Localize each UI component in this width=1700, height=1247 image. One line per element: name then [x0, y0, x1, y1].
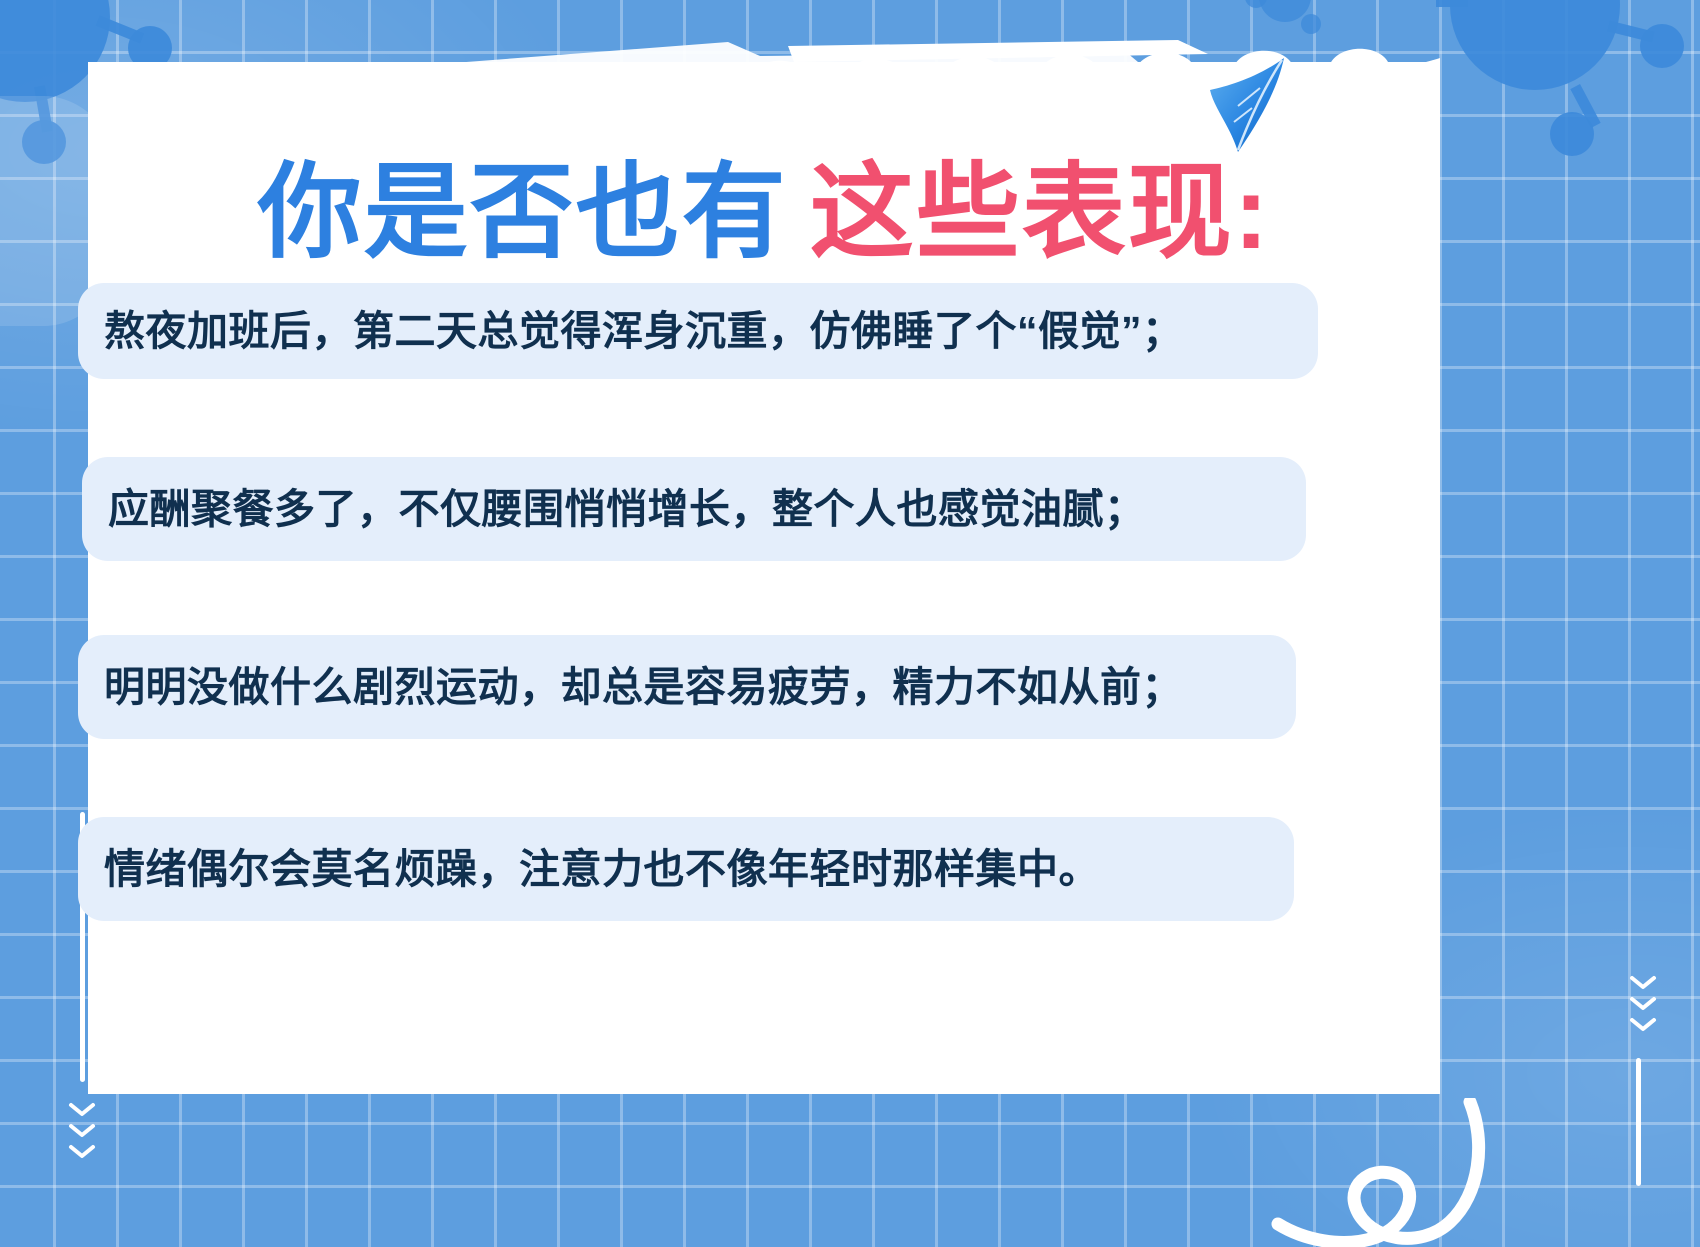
chevron-down-icon: [68, 1102, 96, 1117]
vertical-line-right: [1636, 1058, 1641, 1186]
list-item: 应酬聚餐多了，不仅腰围悄悄增长，整个人也感觉油腻；: [82, 457, 1306, 561]
chevron-down-icon: [1629, 1017, 1657, 1032]
chevron-down-group-left: [68, 1102, 96, 1159]
symptom-list: 熬夜加班后，第二天总觉得浑身沉重，仿佛睡了个“假觉”； 应酬聚餐多了，不仅腰围悄…: [78, 283, 1318, 921]
virus-icon: [1430, 0, 1680, 154]
title-segment-blue: 你是否也有: [258, 155, 788, 271]
scribble-swirl: [1264, 1098, 1494, 1247]
title-segment-pink: 这些表现:: [810, 155, 1271, 271]
leaf-icon: [1208, 56, 1300, 156]
page-title: 你是否也有这些表现:: [88, 152, 1440, 275]
list-item: 熬夜加班后，第二天总觉得浑身沉重，仿佛睡了个“假觉”；: [78, 283, 1318, 379]
chevron-down-icon: [1629, 996, 1657, 1011]
list-item: 明明没做什么剧烈运动，却总是容易疲劳，精力不如从前；: [78, 635, 1296, 739]
chevron-down-icon: [1629, 975, 1657, 990]
poster-canvas: 你是否也有这些表现: 熬夜加班后，第二天总觉得浑身沉重，仿佛睡了个“假觉”； 应…: [0, 0, 1700, 1247]
chevron-down-group-right: [1629, 975, 1657, 1032]
chevron-down-icon: [68, 1123, 96, 1138]
list-item: 情绪偶尔会莫名烦躁，注意力也不像年轻时那样集中。: [78, 817, 1294, 921]
chevron-down-icon: [68, 1144, 96, 1159]
